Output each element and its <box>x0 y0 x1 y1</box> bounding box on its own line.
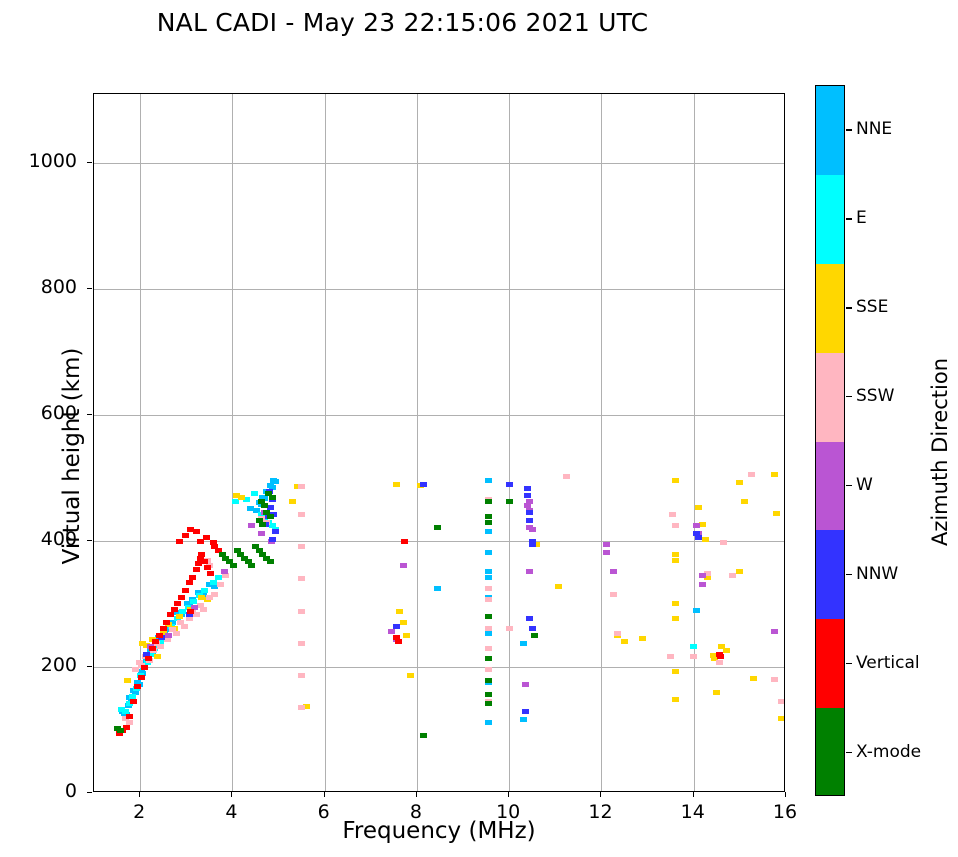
data-point <box>729 573 736 578</box>
data-point <box>693 523 700 528</box>
data-point <box>298 512 305 517</box>
data-point <box>699 582 706 587</box>
data-point <box>750 676 757 681</box>
data-point <box>395 639 402 644</box>
data-point <box>526 518 533 523</box>
data-point <box>736 569 743 574</box>
data-point <box>269 495 276 500</box>
data-point <box>529 626 536 631</box>
data-point <box>124 678 131 683</box>
data-point <box>506 626 513 631</box>
colorbar-band-x-mode[interactable] <box>816 708 844 796</box>
data-point <box>393 624 400 629</box>
data-point <box>669 512 676 517</box>
data-point <box>506 482 513 487</box>
data-point <box>485 626 492 631</box>
colorbar-band-nne[interactable] <box>816 86 844 175</box>
data-point <box>522 709 529 714</box>
y-tick <box>87 666 92 667</box>
data-point <box>485 631 492 636</box>
data-point <box>672 558 679 563</box>
data-point <box>298 544 305 549</box>
data-point <box>149 646 156 651</box>
data-point <box>771 472 778 477</box>
colorbar-band-vertical[interactable] <box>816 619 844 708</box>
data-point <box>182 533 189 538</box>
data-point <box>434 525 441 530</box>
colorbar-tick <box>846 752 852 753</box>
data-point <box>272 479 279 484</box>
data-point <box>603 542 610 547</box>
data-point <box>203 535 210 540</box>
y-tick <box>87 162 92 163</box>
data-point <box>248 523 255 528</box>
data-point <box>485 575 492 580</box>
data-point <box>485 520 492 525</box>
data-point <box>145 656 152 661</box>
colorbar-title: Azimuth Direction <box>928 302 952 602</box>
data-point <box>126 714 133 719</box>
data-point <box>526 616 533 621</box>
x-tick <box>231 792 232 797</box>
data-point <box>393 482 400 487</box>
data-point <box>672 669 679 674</box>
y-tick-label: 800 <box>7 276 77 298</box>
data-point <box>717 654 724 659</box>
data-point <box>267 559 274 564</box>
data-point <box>201 559 208 564</box>
colorbar-label-ssw: SSW <box>856 386 894 406</box>
data-point <box>298 641 305 646</box>
data-point <box>485 678 492 683</box>
colorbar-tick <box>846 485 852 486</box>
data-point <box>217 582 224 587</box>
data-point <box>672 616 679 621</box>
data-point <box>289 499 296 504</box>
data-point <box>720 540 727 545</box>
data-point <box>251 491 258 496</box>
colorbar-label-x-mode: X-mode <box>856 742 921 762</box>
data-point <box>400 620 407 625</box>
colorbar-label-e: E <box>856 208 867 228</box>
data-point <box>771 677 778 682</box>
data-point <box>258 531 265 536</box>
data-point <box>695 505 702 510</box>
data-point <box>197 539 204 544</box>
data-point <box>693 608 700 613</box>
data-point <box>182 588 189 593</box>
data-point <box>699 522 706 527</box>
data-point <box>201 588 208 593</box>
data-point <box>400 563 407 568</box>
data-point <box>522 682 529 687</box>
y-tick <box>87 792 92 793</box>
data-point <box>420 733 427 738</box>
data-point <box>157 644 164 649</box>
colorbar-tick <box>846 574 852 575</box>
data-point <box>215 575 222 580</box>
data-point <box>723 648 730 653</box>
data-point <box>621 639 628 644</box>
colorbar-band-ssw[interactable] <box>816 353 844 442</box>
data-point <box>388 629 395 634</box>
data-point <box>713 690 720 695</box>
data-point <box>690 644 697 649</box>
y-tick <box>87 414 92 415</box>
data-point <box>156 633 163 638</box>
data-point <box>403 633 410 638</box>
data-point <box>485 514 492 519</box>
y-tick-label: 1000 <box>7 150 77 172</box>
data-point <box>485 656 492 661</box>
data-point <box>396 609 403 614</box>
scatter-data-layer <box>94 94 784 791</box>
data-point <box>187 609 194 614</box>
data-point <box>272 529 279 534</box>
colorbar-band-w[interactable] <box>816 442 844 531</box>
data-point <box>485 569 492 574</box>
y-tick-label: 200 <box>7 654 77 676</box>
data-point <box>520 641 527 646</box>
data-point <box>526 510 533 515</box>
data-point <box>485 586 492 591</box>
data-point <box>716 660 723 665</box>
data-point <box>485 597 492 602</box>
colorbar-label-sse: SSE <box>856 297 888 317</box>
data-point <box>130 699 137 704</box>
data-point <box>160 626 167 631</box>
data-point <box>167 612 174 617</box>
data-point <box>529 527 536 532</box>
data-point <box>176 614 183 619</box>
data-point <box>485 701 492 706</box>
data-point <box>154 654 161 659</box>
data-point <box>163 620 170 625</box>
x-tick <box>324 792 325 797</box>
data-point <box>778 699 784 704</box>
y-tick <box>87 288 92 289</box>
colorbar-tick <box>846 218 852 219</box>
data-point <box>672 552 679 557</box>
x-tick <box>508 792 509 797</box>
y-tick-label: 0 <box>7 780 77 802</box>
data-point <box>298 673 305 678</box>
data-point <box>181 624 188 629</box>
data-point <box>485 529 492 534</box>
data-point <box>672 697 679 702</box>
colorbar-label-nnw: NNW <box>856 564 898 584</box>
colorbar-band-e[interactable] <box>816 175 844 264</box>
y-axis-label: Virtual height (km) <box>59 306 85 606</box>
data-point <box>176 539 183 544</box>
colorbar-label-nne: NNE <box>856 119 892 139</box>
figure-title: NAL CADI - May 23 22:15:06 2021 UTC <box>0 8 805 37</box>
data-point <box>485 646 492 651</box>
data-point <box>134 684 141 689</box>
data-point <box>187 527 194 532</box>
data-point <box>485 667 492 672</box>
data-point <box>778 716 784 721</box>
data-point <box>238 495 245 500</box>
data-point <box>261 503 268 508</box>
colorbar-band-nnw[interactable] <box>816 530 844 619</box>
data-point <box>174 601 181 606</box>
x-tick <box>693 792 694 797</box>
data-point <box>407 673 414 678</box>
data-point <box>699 573 706 578</box>
data-point <box>129 694 136 699</box>
data-point <box>485 692 492 697</box>
colorbar-tick <box>846 396 852 397</box>
data-point <box>189 575 196 580</box>
ionogram-figure: NAL CADI - May 23 22:15:06 2021 UTC 2468… <box>0 0 958 857</box>
colorbar-label-vertical: Vertical <box>856 653 920 673</box>
data-point <box>193 567 200 572</box>
data-point <box>526 499 533 504</box>
data-point <box>524 486 531 491</box>
data-point <box>771 629 778 634</box>
data-point <box>610 592 617 597</box>
x-tick <box>139 792 140 797</box>
data-point <box>221 569 228 574</box>
colorbar[interactable] <box>815 85 845 796</box>
data-point <box>485 550 492 555</box>
colorbar-label-w: W <box>856 475 873 495</box>
colorbar-band-sse[interactable] <box>816 264 844 353</box>
data-point <box>401 539 408 544</box>
data-point <box>555 584 562 589</box>
data-point <box>211 592 218 597</box>
data-point <box>695 535 702 540</box>
data-point <box>526 569 533 574</box>
data-point <box>420 482 427 487</box>
data-point <box>186 580 193 585</box>
data-point <box>667 654 674 659</box>
data-point <box>614 631 621 636</box>
data-point <box>434 586 441 591</box>
x-tick <box>600 792 601 797</box>
data-point <box>204 565 211 570</box>
y-tick <box>87 540 92 541</box>
data-point <box>529 542 536 547</box>
colorbar-tick <box>846 307 852 308</box>
data-point <box>485 499 492 504</box>
data-point <box>248 563 255 568</box>
data-point <box>267 514 274 519</box>
data-point <box>736 480 743 485</box>
data-point <box>117 728 124 733</box>
data-point <box>506 499 513 504</box>
data-point <box>741 499 748 504</box>
data-point <box>200 607 207 612</box>
data-point <box>531 633 538 638</box>
data-point <box>603 550 610 555</box>
data-point <box>672 523 679 528</box>
plot-area <box>93 93 785 792</box>
data-point <box>672 478 679 483</box>
data-point <box>485 614 492 619</box>
data-point <box>141 665 148 670</box>
data-point <box>610 569 617 574</box>
data-point <box>298 576 305 581</box>
x-tick <box>416 792 417 797</box>
data-point <box>520 717 527 722</box>
data-point <box>298 609 305 614</box>
data-point <box>152 639 159 644</box>
data-point <box>165 633 172 638</box>
data-point <box>672 601 679 606</box>
data-point <box>702 537 709 542</box>
data-point <box>298 484 305 489</box>
colorbar-tick <box>846 129 852 130</box>
data-point <box>485 478 492 483</box>
data-point <box>563 474 570 479</box>
x-axis-label: Frequency (MHz) <box>93 818 785 844</box>
data-point <box>210 580 217 585</box>
x-tick <box>785 792 786 797</box>
data-point <box>259 522 266 527</box>
data-point <box>269 537 276 542</box>
data-point <box>178 595 185 600</box>
colorbar-tick <box>846 663 852 664</box>
data-point <box>207 571 214 576</box>
data-point <box>639 636 646 641</box>
data-point <box>773 511 780 516</box>
data-point <box>748 472 755 477</box>
data-point <box>138 675 145 680</box>
data-point <box>171 607 178 612</box>
data-point <box>173 631 180 636</box>
data-point <box>485 720 492 725</box>
data-point <box>298 705 305 710</box>
data-point <box>690 654 697 659</box>
data-point <box>230 563 237 568</box>
data-point <box>198 552 205 557</box>
data-point <box>122 709 129 714</box>
data-point <box>524 493 531 498</box>
